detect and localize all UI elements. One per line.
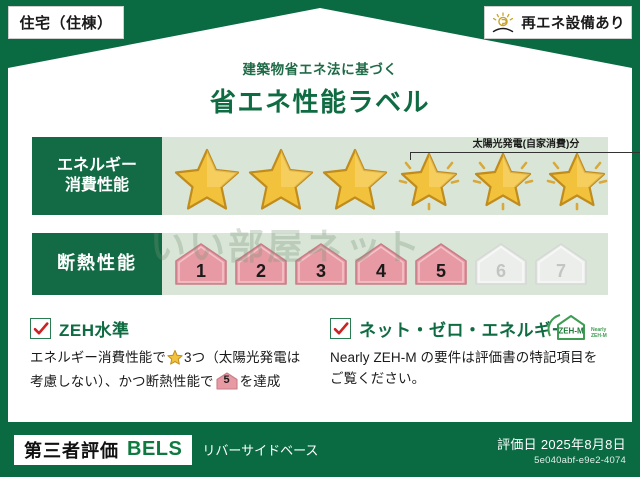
performance-panel: エネルギー 消費性能 <box>32 137 608 295</box>
grade-number: 1 <box>174 261 228 282</box>
grade-number: 4 <box>354 261 408 282</box>
evaluation-id: 5e040abf-e9e2-4074 <box>497 455 626 466</box>
insulation-grade-5: 5 <box>414 242 468 286</box>
inline-grade-badge: 5 <box>216 372 238 390</box>
inline-grade-number: 5 <box>216 372 238 389</box>
net-zero-energy-title: ネット・ゼロ・エネルギー <box>359 316 569 341</box>
checkbox-checked-icon <box>30 318 51 339</box>
building-type-badge: 住宅（住棟） <box>8 6 124 39</box>
grade-number: 7 <box>534 261 588 282</box>
evaluation-meta: 評価日 2025年8月8日 5e040abf-e9e2-4074 <box>497 434 626 466</box>
inline-star-icon <box>167 349 183 372</box>
star-1 <box>172 141 242 211</box>
star-2 <box>246 141 316 211</box>
grade-number: 3 <box>294 261 348 282</box>
building-type-label: 住宅（住棟） <box>19 12 112 33</box>
insulation-grade-6: 6 <box>474 242 528 286</box>
solar-bracket <box>410 152 640 160</box>
insulation-grade-1: 1 <box>174 242 228 286</box>
zeh-m-logo-icon: ZEH-M Nearly ZEH-M <box>546 312 608 346</box>
grade-number: 2 <box>234 261 288 282</box>
insulation-performance-label-box: 断熱性能 <box>32 233 162 295</box>
zeh-standard-block: ZEH水準 エネルギー消費性能で3つ（太陽光発電は考慮しない）、かつ断熱性能で5… <box>30 316 320 408</box>
energy-label-line2: 消費性能 <box>65 176 129 196</box>
zeh-body-text-3: を達成 <box>240 374 281 389</box>
energy-performance-label-box: エネルギー 消費性能 <box>32 137 162 215</box>
grade-number: 6 <box>474 261 528 282</box>
energy-rating-area: 太陽光発電(自家消費)分 <box>162 137 608 215</box>
solar-annotation-text: 太陽光発電(自家消費)分 <box>410 135 640 150</box>
insulation-grade-2: 2 <box>234 242 288 286</box>
third-party-eval-label: 第三者評価 <box>24 437 119 463</box>
zeh-standard-body: エネルギー消費性能で3つ（太陽光発電は考慮しない）、かつ断熱性能で5を達成 <box>30 348 308 393</box>
bels-certification-chip: 第三者評価 BELS <box>14 435 192 465</box>
solar-annotation: 太陽光発電(自家消費)分 <box>410 135 640 160</box>
insulation-label: 断熱性能 <box>57 252 137 275</box>
insulation-grade-4: 4 <box>354 242 408 286</box>
zeh-body-text-1: エネルギー消費性能で <box>30 350 166 365</box>
zeh-standard-header: ZEH水準 <box>30 316 308 341</box>
zeh-m-logo-text: ZEH-M <box>558 327 584 336</box>
zeh-standard-title: ZEH水準 <box>59 316 130 341</box>
zeh-m-logo-sub2: ZEH-M <box>591 333 607 339</box>
grade-number: 5 <box>414 261 468 282</box>
label-title-block: 建築物省エネ法に基づく 省エネ性能ラベル <box>0 58 640 119</box>
insulation-grade-7: 7 <box>534 242 588 286</box>
insulation-grade-3: 3 <box>294 242 348 286</box>
star-3 <box>320 141 390 211</box>
sun-icon <box>491 12 515 34</box>
checkbox-checked-icon <box>330 318 351 339</box>
label-footer: 第三者評価 BELS リバーサイドベース 評価日 2025年8月8日 5e040… <box>0 422 640 477</box>
energy-label-line1: エネルギー <box>57 156 137 176</box>
evaluation-date-label: 評価日 <box>497 437 537 452</box>
net-zero-energy-block: ネット・ゼロ・エネルギー Nearly ZEH-M の要件は評価書の特記項目をご… <box>320 316 610 408</box>
page-title: 省エネ性能ラベル <box>0 82 640 119</box>
zeh-section: ZEH水準 エネルギー消費性能で3つ（太陽光発電は考慮しない）、かつ断熱性能で5… <box>30 316 610 408</box>
renewable-equipment-label: 再エネ設備あり <box>521 12 625 33</box>
evaluation-date-value: 2025年8月8日 <box>541 437 626 452</box>
title-subtitle: 建築物省エネ法に基づく <box>0 58 640 78</box>
property-name: リバーサイドベース <box>202 440 318 459</box>
evaluation-date-line: 評価日 2025年8月8日 <box>497 434 626 453</box>
insulation-rating-area: 1 2 3 <box>162 233 608 295</box>
renewable-equipment-badge: 再エネ設備あり <box>484 6 632 39</box>
net-zero-energy-body: Nearly ZEH-M の要件は評価書の特記項目をご覧ください。 <box>330 348 598 390</box>
insulation-grade-scale: 1 2 3 <box>162 242 588 286</box>
energy-performance-row: エネルギー 消費性能 <box>32 137 608 215</box>
bels-logo-text: BELS <box>127 438 182 461</box>
insulation-performance-row: 断熱性能 1 <box>32 233 608 295</box>
energy-performance-label: 住宅（住棟） 再エネ設備あり 建築物省エネ法に基づく 省エネ性能ラベル <box>0 0 640 477</box>
